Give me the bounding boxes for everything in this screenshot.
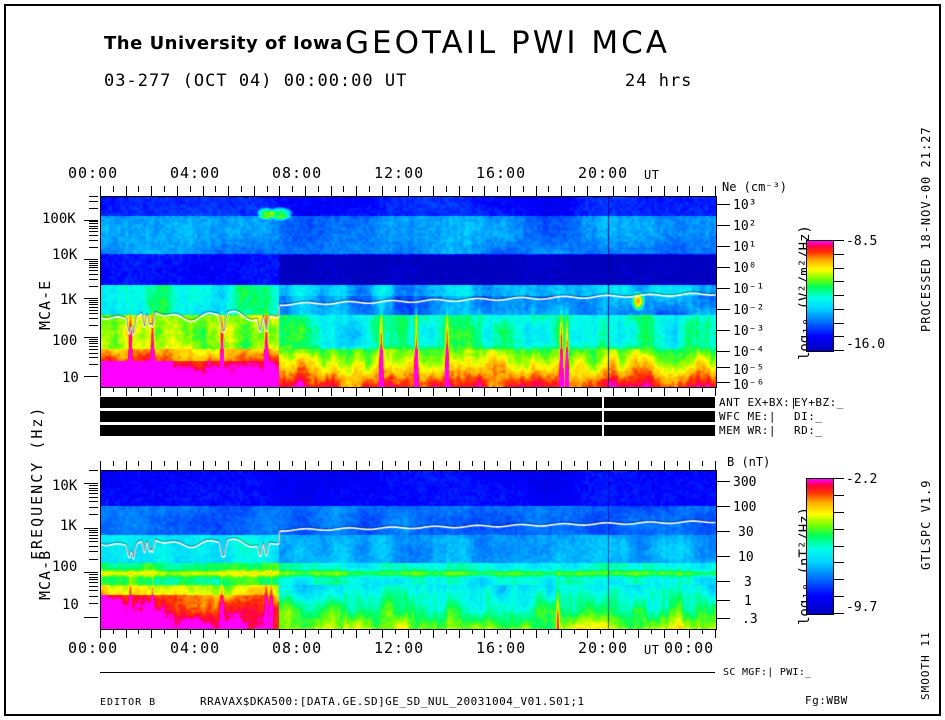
time-tick-bot-1 — [113, 629, 114, 634]
freq-tick-b — [89, 485, 98, 486]
freq-tick-e — [89, 265, 98, 266]
time-tick-bot-24 — [408, 629, 409, 638]
time-tick-top-21 — [369, 186, 370, 192]
time-tick-mid-2 — [126, 387, 127, 396]
freq-tick-e — [89, 263, 98, 264]
time-tick-top-47 — [702, 186, 703, 192]
time-tick-bot-42 — [638, 629, 639, 638]
time-tick-bot-37 — [574, 629, 575, 634]
ne-tickmark-3 — [716, 267, 730, 268]
freq-tick-b — [89, 551, 98, 552]
time-tick-bot-22 — [382, 629, 383, 638]
time-tick-top-0 — [100, 186, 101, 196]
time-tick-top-32 — [510, 186, 511, 196]
time-tick-panelb-top-36 — [561, 461, 562, 470]
time-tick-panelb-top-27 — [446, 461, 447, 466]
freq-tick-e — [89, 353, 98, 354]
time-tick-panelb-top-46 — [689, 461, 690, 470]
sc-mgf-label: SC MGF:| PWI:_ — [723, 667, 812, 678]
b-tickmark-3 — [716, 556, 730, 557]
time-tick-panelb-top-44 — [664, 461, 665, 470]
time-tick-panelb-top-19 — [343, 461, 344, 466]
time-tick-mid-1 — [113, 387, 114, 392]
time-label-top-0: 00:00 — [68, 164, 118, 182]
time-tick-panelb-top-4 — [151, 461, 152, 470]
time-tick-panelb-top-8 — [203, 461, 204, 470]
processed-timestamp: PROCESSED 18-NOV-00 21:27 — [919, 126, 933, 332]
panel-b-ytick-2: 100 — [52, 559, 77, 575]
time-tick-top-17 — [318, 186, 319, 192]
time-tick-mid-46 — [689, 387, 690, 396]
time-tick-top-4 — [151, 186, 152, 196]
status-label-wfc-b: DI:_ — [794, 410, 823, 423]
time-tick-bot-43 — [651, 629, 652, 634]
file-path: RRAVAX$DKA500:[DATA.GE.SD]GE_SD_NUL_2003… — [200, 695, 585, 708]
freq-tick-e — [89, 302, 98, 303]
time-tick-panelb-top-9 — [215, 461, 216, 466]
time-tick-panelb-top-16 — [305, 461, 306, 470]
time-tick-panelb-top-18 — [331, 461, 332, 470]
status-label-mem-b: RD:_ — [794, 424, 823, 437]
time-tick-mid-25 — [420, 387, 421, 392]
ne-tick-2: 10¹ — [733, 240, 756, 255]
status-label-mem-a: MEM WR:| — [719, 424, 776, 437]
time-tick-bot-20 — [356, 629, 357, 638]
freq-tick-e — [89, 300, 98, 301]
time-tick-bot-8 — [203, 629, 204, 638]
b-tick-2: 30 — [738, 525, 754, 540]
time-tick-top-6 — [177, 186, 178, 196]
time-tick-panelb-top-13 — [267, 461, 268, 466]
freq-tick-e — [89, 286, 98, 287]
freq-tick-b — [89, 541, 98, 542]
time-tick-top-8 — [203, 186, 204, 196]
editor-label: EDITOR B — [100, 697, 156, 708]
time-tick-bot-41 — [625, 629, 626, 634]
time-tick-bot-21 — [369, 629, 370, 634]
time-unit-top: UT — [644, 168, 659, 182]
b-tickmark-6 — [716, 618, 730, 619]
spectrogram-mca-b[interactable] — [100, 470, 717, 630]
panel-e-ytick-3: 100 — [52, 333, 77, 349]
time-tick-panelb-top-1 — [113, 461, 114, 466]
time-tick-mid-19 — [343, 387, 344, 392]
colorbar-b-max: -2.2 — [846, 472, 877, 487]
freq-tick-e — [89, 270, 98, 271]
time-tick-bot-4 — [151, 629, 152, 638]
time-tick-panelb-top-30 — [484, 461, 485, 470]
time-tick-mid-26 — [433, 387, 434, 396]
freq-tick-e — [89, 307, 98, 308]
colorbar-e-tick-4 — [834, 295, 844, 296]
frequency-axis-title: FREQUENCY (Hz) — [28, 406, 46, 560]
b-axis-title: B (nT) — [727, 455, 770, 469]
freq-tick-b — [89, 497, 98, 498]
panel-e-name: MCA-E — [36, 280, 54, 330]
time-label-top-1: 04:00 — [170, 164, 220, 182]
time-tick-mid-4 — [151, 387, 152, 396]
freq-tick-e — [89, 357, 98, 358]
time-tick-panelb-top-34 — [536, 461, 537, 470]
time-tick-top-2 — [126, 186, 127, 196]
ne-tick-8: 10⁻⁵ — [733, 363, 764, 378]
colorbar-b-tick-8 — [834, 613, 844, 614]
freq-tick-e — [89, 279, 98, 280]
time-label-bot-end: 00:00 — [664, 639, 714, 657]
time-tick-bot-30 — [484, 629, 485, 638]
time-tick-mid-16 — [305, 387, 306, 396]
b-tick-0: 300 — [733, 475, 756, 490]
time-label-bot-0: 00:00 — [68, 639, 118, 657]
time-tick-panelb-top-15 — [292, 461, 293, 466]
time-label-top-5: 20:00 — [578, 164, 628, 182]
time-tick-top-34 — [536, 186, 537, 196]
ne-tick-1: 10² — [733, 219, 756, 234]
ne-tick-9: 10⁻⁶ — [733, 378, 764, 393]
colorbar-e-min: -16.0 — [846, 337, 885, 352]
freq-tick-e — [89, 304, 98, 305]
smooth-label: SMOOTH 11 — [919, 631, 932, 700]
freq-tick-e — [89, 228, 98, 229]
time-tick-bot-12 — [254, 629, 255, 638]
freq-tick-e — [84, 298, 98, 299]
time-tick-bot-29 — [472, 629, 473, 634]
freq-tick-e — [89, 339, 98, 340]
colorbar-b-tick-5 — [834, 562, 844, 563]
time-tick-bot-45 — [677, 629, 678, 634]
time-tick-bot-5 — [164, 629, 165, 634]
panel-e-ytick-2: 1K — [60, 292, 77, 308]
time-tick-mid-17 — [318, 387, 319, 392]
time-tick-panelb-top-39 — [600, 461, 601, 466]
time-tick-mid-42 — [638, 387, 639, 396]
time-tick-mid-31 — [497, 387, 498, 392]
ne-tickmark-8 — [716, 367, 730, 368]
time-tick-mid-28 — [459, 387, 460, 396]
duration-label: 24 hrs — [625, 71, 692, 91]
time-tick-panelb-top-43 — [651, 461, 652, 466]
time-tick-panelb-top-2 — [126, 461, 127, 470]
freq-tick-b — [89, 538, 98, 539]
time-tick-top-11 — [241, 186, 242, 192]
time-tick-panelb-top-23 — [395, 461, 396, 466]
freq-tick-b — [89, 559, 98, 560]
time-tick-panelb-top-11 — [241, 461, 242, 466]
time-tick-mid-14 — [279, 387, 280, 396]
freq-tick-e — [89, 313, 98, 314]
time-tick-top-44 — [664, 186, 665, 196]
freq-tick-e — [84, 259, 98, 260]
time-tick-panelb-top-17 — [318, 461, 319, 466]
time-tick-mid-3 — [138, 387, 139, 392]
time-tick-bot-18 — [331, 629, 332, 638]
freq-tick-b — [89, 530, 98, 531]
time-tick-panelb-top-32 — [510, 461, 511, 470]
freq-tick-e — [89, 318, 98, 319]
freq-tick-b — [89, 590, 98, 591]
time-tick-mid-38 — [587, 387, 588, 396]
b-tickmark-0 — [716, 481, 730, 482]
freq-tick-b — [89, 603, 98, 604]
ne-tick-4: 10⁻¹ — [733, 282, 764, 297]
ne-tickmark-4 — [716, 288, 730, 289]
time-tick-top-28 — [459, 186, 460, 196]
time-tick-mid-6 — [177, 387, 178, 396]
time-tick-top-22 — [382, 186, 383, 196]
freq-tick-e — [84, 376, 98, 377]
time-tick-panelb-top-12 — [254, 461, 255, 470]
status-gap — [602, 397, 604, 436]
time-tick-bot-27 — [446, 629, 447, 634]
time-tick-panelb-top-26 — [433, 461, 434, 470]
colorbar-e-tick-7 — [834, 336, 844, 337]
status-bar-row-3 — [100, 425, 715, 436]
time-tick-bot-28 — [459, 629, 460, 638]
time-tick-mid-5 — [164, 387, 165, 392]
ne-tickmark-5 — [716, 309, 730, 310]
time-tick-bot-16 — [305, 629, 306, 638]
ne-tick-5: 10⁻² — [733, 303, 764, 318]
time-tick-bot-35 — [548, 629, 549, 634]
time-tick-mid-32 — [510, 387, 511, 396]
time-tick-top-12 — [254, 186, 255, 196]
time-tick-panelb-top-7 — [190, 461, 191, 466]
time-tick-bot-14 — [279, 629, 280, 638]
time-tick-top-39 — [600, 186, 601, 192]
colorbar-b-tick-2 — [834, 512, 844, 513]
time-tick-mid-30 — [484, 387, 485, 396]
time-tick-panelb-top-3 — [138, 461, 139, 466]
time-tick-mid-24 — [408, 387, 409, 396]
time-tick-top-29 — [472, 186, 473, 192]
ne-tick-3: 10⁰ — [733, 261, 756, 276]
freq-tick-b — [89, 574, 98, 575]
time-tick-bot-44 — [664, 629, 665, 638]
time-tick-panelb-top-6 — [177, 461, 178, 470]
time-tick-top-45 — [677, 186, 678, 192]
time-tick-bot-10 — [228, 629, 229, 638]
freq-tick-b — [89, 514, 98, 515]
time-label-top-3: 12:00 — [374, 164, 424, 182]
colorbar-e-tick-0 — [834, 240, 844, 241]
ne-tickmark-9 — [716, 382, 730, 383]
time-tick-top-23 — [395, 186, 396, 192]
time-tick-top-46 — [689, 186, 690, 196]
spectrogram-mca-e[interactable] — [100, 196, 717, 388]
time-tick-panelb-top-37 — [574, 461, 575, 466]
panel-b-ytick-1: 1K — [60, 518, 77, 534]
time-tick-bot-32 — [510, 629, 511, 638]
time-tick-mid-43 — [651, 387, 652, 392]
ne-tick-0: 10³ — [733, 198, 756, 213]
time-label-bot-1: 04:00 — [170, 639, 220, 657]
freq-tick-b — [89, 546, 98, 547]
status-label-ant-a: ANT EX+BX:| — [719, 396, 797, 409]
ne-tickmark-7 — [716, 351, 730, 352]
time-tick-mid-11 — [241, 387, 242, 392]
time-tick-panelb-top-21 — [369, 461, 370, 466]
panel-b-ytick-3: 10 — [62, 597, 79, 613]
time-tick-mid-45 — [677, 387, 678, 392]
time-tick-mid-21 — [369, 387, 370, 392]
time-tick-mid-9 — [215, 387, 216, 392]
time-tick-top-24 — [408, 186, 409, 196]
colorbar-b-tick-1 — [834, 495, 844, 496]
time-tick-panelb-top-45 — [677, 461, 678, 466]
freq-tick-e — [84, 220, 98, 221]
colorbar-e-tick-1 — [834, 254, 844, 255]
freq-tick-b — [89, 507, 98, 508]
time-tick-panelb-top-28 — [459, 461, 460, 470]
time-tick-mid-13 — [267, 387, 268, 392]
time-tick-mid-12 — [254, 387, 255, 396]
time-tick-mid-20 — [356, 387, 357, 396]
panel-e-ytick-0: 100K — [42, 211, 76, 227]
freq-tick-b — [89, 490, 98, 491]
colorbar-e-max: -8.5 — [846, 234, 877, 249]
freq-tick-b — [89, 596, 98, 597]
time-tick-bot-17 — [318, 629, 319, 634]
time-tick-bot-19 — [343, 629, 344, 634]
time-tick-mid-37 — [574, 387, 575, 392]
time-tick-bot-7 — [190, 629, 191, 634]
freq-tick-b — [84, 528, 98, 529]
time-tick-bot-3 — [138, 629, 139, 634]
time-tick-bot-2 — [126, 629, 127, 638]
time-tick-top-7 — [190, 186, 191, 192]
time-label-top-4: 16:00 — [476, 164, 526, 182]
time-tick-bot-47 — [702, 629, 703, 634]
time-tick-mid-23 — [395, 387, 396, 392]
time-tick-panelb-top-48 — [715, 461, 716, 470]
time-tick-bot-9 — [215, 629, 216, 634]
time-tick-top-40 — [613, 186, 614, 196]
time-tick-bot-46 — [689, 629, 690, 638]
time-tick-mid-7 — [190, 387, 191, 392]
freq-tick-e — [89, 223, 98, 224]
time-tick-bot-40 — [613, 629, 614, 638]
time-tick-mid-10 — [228, 387, 229, 396]
time-tick-top-38 — [587, 186, 588, 196]
time-tick-top-9 — [215, 186, 216, 192]
colorbar-b-tick-4 — [834, 546, 844, 547]
time-tick-mid-36 — [561, 387, 562, 396]
time-tick-top-3 — [138, 186, 139, 192]
time-tick-mid-18 — [331, 387, 332, 396]
time-tick-panelb-top-24 — [408, 461, 409, 470]
time-tick-mid-22 — [382, 387, 383, 396]
colorbar-e-tick-5 — [834, 309, 844, 310]
b-tickmark-5 — [716, 600, 730, 601]
time-tick-top-48 — [715, 186, 716, 196]
date-line: 03-277 (OCT 04) 00:00:00 UT — [104, 71, 407, 91]
time-tick-top-15 — [292, 186, 293, 192]
freq-tick-b — [84, 483, 98, 484]
time-tick-panelb-top-5 — [164, 461, 165, 466]
time-unit-bot: UT — [644, 643, 659, 657]
ne-tick-6: 10⁻³ — [733, 324, 764, 339]
freq-tick-e — [89, 196, 98, 197]
time-tick-mid-35 — [548, 387, 549, 392]
time-tick-panelb-top-42 — [638, 461, 639, 470]
time-tick-bot-48 — [715, 629, 716, 638]
time-tick-top-27 — [446, 186, 447, 192]
time-tick-top-33 — [523, 186, 524, 192]
freq-tick-e — [89, 310, 98, 311]
freq-tick-e — [89, 201, 98, 202]
footer-rule — [100, 672, 715, 673]
time-tick-top-31 — [497, 186, 498, 192]
colorbar-b-min: -9.7 — [846, 600, 877, 615]
freq-tick-e — [89, 343, 98, 344]
software-version: GTLSPC V1.9 — [919, 480, 933, 570]
time-tick-mid-33 — [523, 387, 524, 392]
freq-tick-e — [89, 221, 98, 222]
time-tick-mid-44 — [664, 387, 665, 396]
time-tick-bot-36 — [561, 629, 562, 638]
status-bar-row-2 — [100, 411, 715, 422]
mission-title: GEOTAIL PWI MCA — [345, 25, 670, 61]
freq-tick-e — [89, 235, 98, 236]
time-tick-top-1 — [113, 186, 114, 192]
time-tick-bot-0 — [100, 629, 101, 638]
b-tick-5: 1 — [744, 594, 752, 609]
time-tick-mid-29 — [472, 387, 473, 392]
b-tick-6: .3 — [742, 612, 758, 627]
freq-tick-e — [89, 267, 98, 268]
freq-tick-e — [89, 364, 98, 365]
status-bar-row-1 — [100, 397, 715, 408]
time-tick-panelb-top-29 — [472, 461, 473, 466]
b-tick-1: 100 — [733, 500, 756, 515]
time-tick-mid-27 — [446, 387, 447, 392]
time-tick-top-42 — [638, 186, 639, 196]
time-tick-bot-6 — [177, 629, 178, 638]
panel-e-ytick-1: 10K — [52, 247, 77, 263]
ne-tickmark-2 — [716, 246, 730, 247]
ne-tickmark-0 — [716, 204, 730, 205]
time-label-bot-2: 08:00 — [272, 639, 322, 657]
time-tick-mid-8 — [203, 387, 204, 396]
time-tick-top-19 — [343, 186, 344, 192]
time-tick-top-10 — [228, 186, 229, 196]
time-tick-top-18 — [331, 186, 332, 196]
time-tick-mid-48 — [715, 387, 716, 396]
b-tickmark-1 — [716, 506, 730, 507]
time-tick-panelb-top-20 — [356, 461, 357, 470]
ne-axis-title: Ne (cm⁻³) — [722, 180, 787, 194]
time-tick-top-13 — [267, 186, 268, 192]
time-tick-bot-13 — [267, 629, 268, 634]
freq-tick-e — [89, 231, 98, 232]
time-tick-top-14 — [279, 186, 280, 196]
b-tickmark-2 — [716, 531, 730, 532]
time-tick-mid-41 — [625, 387, 626, 392]
time-tick-top-36 — [561, 186, 562, 196]
freq-tick-e — [89, 226, 98, 227]
ne-tickmark-6 — [716, 330, 730, 331]
freq-tick-b — [89, 579, 98, 580]
time-label-bot-5: 20:00 — [578, 639, 628, 657]
colorbar-b-tick-0 — [834, 478, 844, 479]
freq-tick-b — [89, 501, 98, 502]
time-tick-mid-34 — [536, 387, 537, 396]
freq-tick-e — [89, 349, 98, 350]
b-tickmark-4 — [716, 581, 730, 582]
time-tick-panelb-top-38 — [587, 461, 588, 470]
colorbar-e-tick-3 — [834, 281, 844, 282]
freq-tick-e — [89, 240, 98, 241]
